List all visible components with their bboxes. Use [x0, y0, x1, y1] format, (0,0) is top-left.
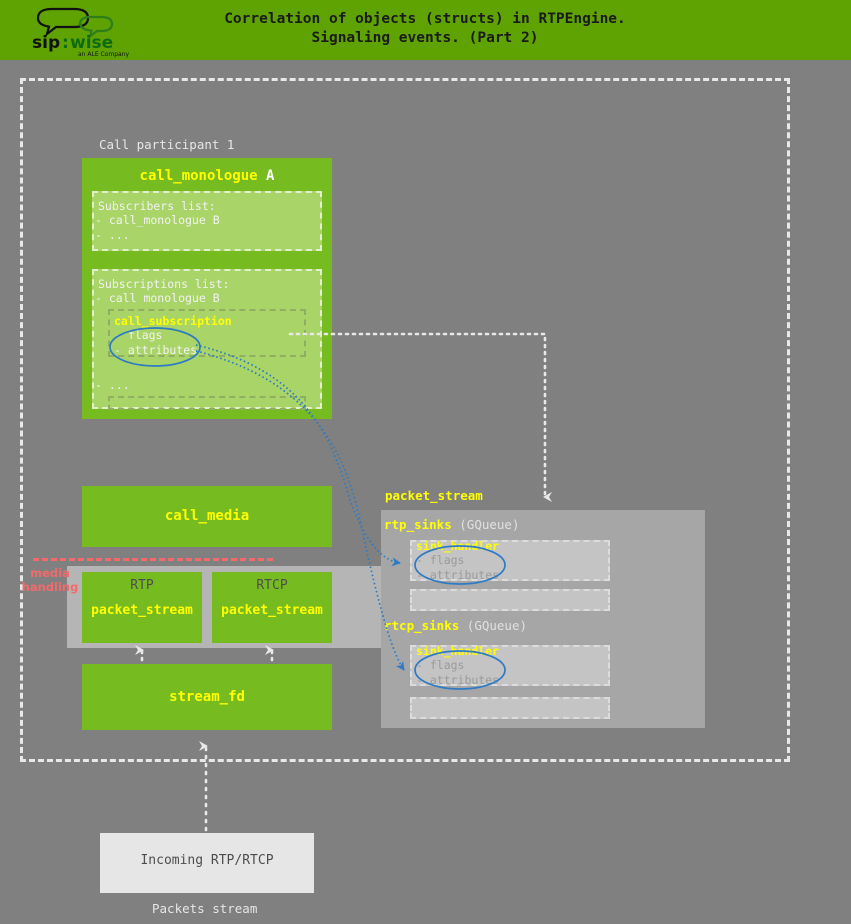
call-media-title: call_media [82, 508, 332, 524]
call-monologue-title-suffix: A [266, 168, 274, 184]
media-handling-label: media handling [18, 566, 82, 594]
rtp-sink-handler-field-flags: - flags [416, 553, 464, 568]
incoming-rtp-rtcp-box[interactable]: Incoming RTP/RTCP [100, 833, 314, 893]
subscribers-item-1: - ... [95, 228, 130, 243]
rtp-packet-stream-box[interactable]: RTP packet_stream [82, 572, 202, 643]
stream-fd-title: stream_fd [82, 689, 332, 705]
media-handling-divider [33, 558, 273, 561]
call-subscription-title: call_subscription [114, 314, 232, 328]
rtp-label: RTP [82, 578, 202, 593]
rtcp-label: RTCP [212, 578, 332, 593]
stream-fd-box[interactable]: stream_fd [82, 664, 332, 730]
rtcp-sink-handler-placeholder-box [410, 697, 610, 719]
svg-text:wise: wise [70, 33, 113, 53]
rtp-sink-handler-field-attributes: - attributes [416, 568, 499, 583]
subscriptions-item-0: - call monologue B [95, 291, 220, 306]
rtcp-sink-handler-field-attributes: - attributes [416, 673, 499, 688]
call-participant-label: Call participant 1 [99, 137, 234, 152]
rtcp-packet-stream-box[interactable]: RTCP packet_stream [212, 572, 332, 643]
diagram-canvas: sip : wise an ALE Company Correlation of… [0, 0, 851, 924]
subscribers-item-0: - call_monologue B [95, 213, 220, 228]
rtp-sinks-type: (GQueue) [459, 517, 519, 532]
call-monologue-title-code: call_monologue [140, 168, 258, 184]
rtcp-sinks-name: rtcp_sinks [384, 618, 459, 633]
rtcp-sinks-label: rtcp_sinks (GQueue) [384, 618, 527, 633]
subscriptions-item-1: - ... [95, 378, 130, 393]
rtp-sink-handler-title: sink_handler [416, 539, 499, 553]
subscriptions-heading: Subscriptions list: [98, 277, 230, 292]
packets-stream-caption: Packets stream [152, 901, 257, 916]
sipwise-logo-icon: sip : wise an ALE Company [30, 4, 140, 58]
rtcp-sinks-type: (GQueue) [467, 618, 527, 633]
rtcp-packet-stream-title: packet_stream [212, 603, 332, 618]
call-subscription-placeholder-box [108, 396, 306, 410]
rtp-sinks-name: rtp_sinks [384, 517, 452, 532]
rtp-sink-handler-placeholder-box [410, 589, 610, 611]
svg-text:sip: sip [32, 33, 60, 53]
rtcp-sink-handler-field-flags: - flags [416, 658, 464, 673]
packet-stream-panel-label: packet_stream [385, 488, 483, 503]
call-subscription-field-attributes: - attributes [114, 343, 197, 358]
svg-text:an ALE Company: an ALE Company [78, 51, 130, 58]
rtp-sinks-label: rtp_sinks (GQueue) [384, 517, 519, 532]
call-media-box[interactable]: call_media [82, 486, 332, 547]
call-subscription-field-flags: - flags [114, 328, 162, 343]
svg-text::: : [62, 33, 69, 53]
incoming-rtp-rtcp-title: Incoming RTP/RTCP [100, 853, 314, 868]
call-monologue-title: call_monologue A [82, 168, 332, 184]
page-header: sip : wise an ALE Company Correlation of… [0, 0, 851, 60]
subscribers-heading: Subscribers list: [98, 199, 216, 214]
page-title: Correlation of objects (structs) in RTPE… [160, 10, 690, 48]
rtcp-sink-handler-title: sink_handler [416, 644, 499, 658]
rtp-packet-stream-title: packet_stream [82, 603, 202, 618]
